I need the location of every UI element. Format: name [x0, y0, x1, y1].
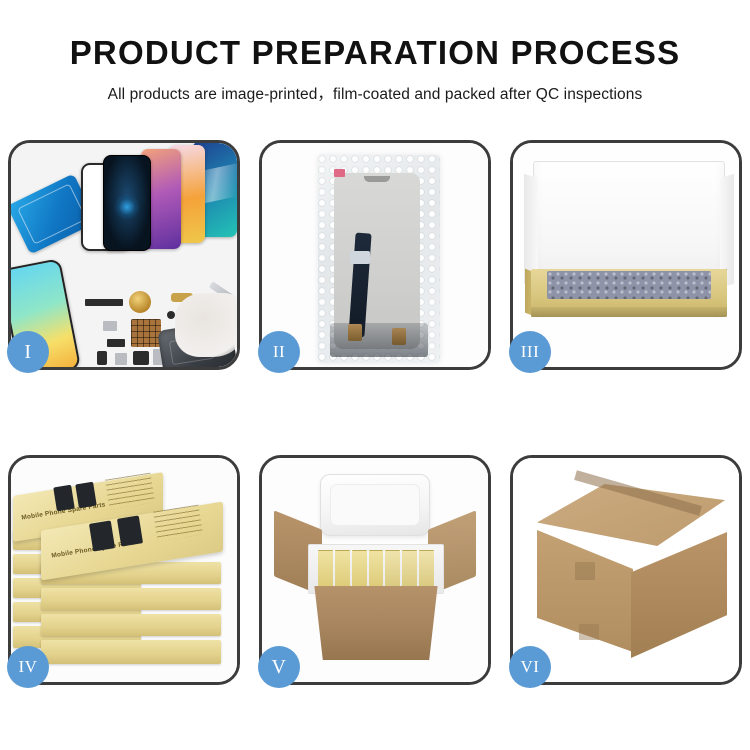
step-badge-3: III	[509, 331, 551, 373]
grey-foam-icon	[547, 271, 711, 299]
step-image-4: Mobile Phone Spare Parts Mobile Phone Sp…	[11, 458, 237, 682]
step-panel-2: II	[259, 140, 491, 370]
carton-tab-lower	[579, 624, 599, 640]
box-screen-graphic	[117, 515, 143, 546]
driver-ic-icon	[350, 251, 370, 264]
speaker-icon	[97, 351, 107, 365]
bubble-wrap-bag-icon	[318, 155, 440, 363]
stacked-box	[41, 614, 221, 636]
process-steps-grid: I II	[8, 140, 742, 685]
flex-strip-icon	[85, 299, 123, 306]
taptic-icon	[133, 351, 149, 365]
step-badge-4: IV	[7, 646, 49, 688]
carton-tab-upper	[575, 562, 595, 580]
yellow-box-row	[318, 550, 434, 588]
yellow-box	[335, 550, 350, 588]
box-screen-graphic	[53, 485, 75, 512]
dark-screen-icon	[103, 155, 151, 251]
red-sticker-icon	[334, 169, 345, 177]
step-panel-4: Mobile Phone Spare Parts Mobile Phone Sp…	[8, 455, 240, 685]
carton-body-icon	[306, 586, 446, 660]
yellow-box	[369, 550, 384, 588]
step-panel-6: VI	[510, 455, 742, 685]
box-screen-graphic	[89, 520, 115, 551]
camera-ring-icon	[129, 291, 151, 313]
step-badge-2: II	[258, 331, 300, 373]
step-badge-1: I	[7, 331, 49, 373]
yellow-box	[385, 550, 400, 588]
yellow-box	[419, 550, 434, 588]
carton-pack-scene	[262, 458, 488, 682]
vibrator-icon	[115, 353, 127, 365]
step-badge-6: VI	[509, 646, 551, 688]
bubble-wrap-scene	[262, 143, 488, 367]
metal-bracket-icon	[103, 321, 117, 331]
step-panel-1: I	[8, 140, 240, 370]
foam-box-scene	[513, 143, 739, 367]
page-subtitle: All products are image-printed，film-coat…	[0, 82, 750, 104]
step-image-6	[513, 458, 739, 682]
small-chip-icon	[107, 339, 125, 347]
carton-right-face	[631, 532, 727, 658]
step-badge-5: V	[258, 646, 300, 688]
box-screen-graphic	[75, 482, 97, 509]
yellow-box	[352, 550, 367, 588]
product-preparation-page: PRODUCT PREPARATION PROCESS All products…	[0, 0, 750, 750]
logic-board-icon	[131, 319, 161, 347]
page-title: PRODUCT PREPARATION PROCESS	[0, 36, 750, 71]
cable-bundle-icon	[330, 323, 428, 357]
stacked-box	[41, 588, 221, 610]
yellow-box	[318, 550, 333, 588]
phone-parts-scene	[11, 143, 237, 367]
step-panel-5: V	[259, 455, 491, 685]
step-image-1	[11, 143, 237, 367]
step-image-3	[513, 143, 739, 367]
sealed-carton-scene	[513, 458, 739, 682]
box-stack-scene: Mobile Phone Spare Parts Mobile Phone Sp…	[11, 458, 237, 682]
hand-blur-icon	[175, 293, 237, 357]
screw-icon	[167, 311, 175, 319]
page-header: PRODUCT PREPARATION PROCESS All products…	[0, 0, 750, 104]
foam-lid-icon	[320, 474, 430, 536]
step-panel-3: III	[510, 140, 742, 370]
stacked-box	[41, 640, 221, 664]
yellow-box	[402, 550, 417, 588]
step-image-5	[262, 458, 488, 682]
step-image-2	[262, 143, 488, 367]
